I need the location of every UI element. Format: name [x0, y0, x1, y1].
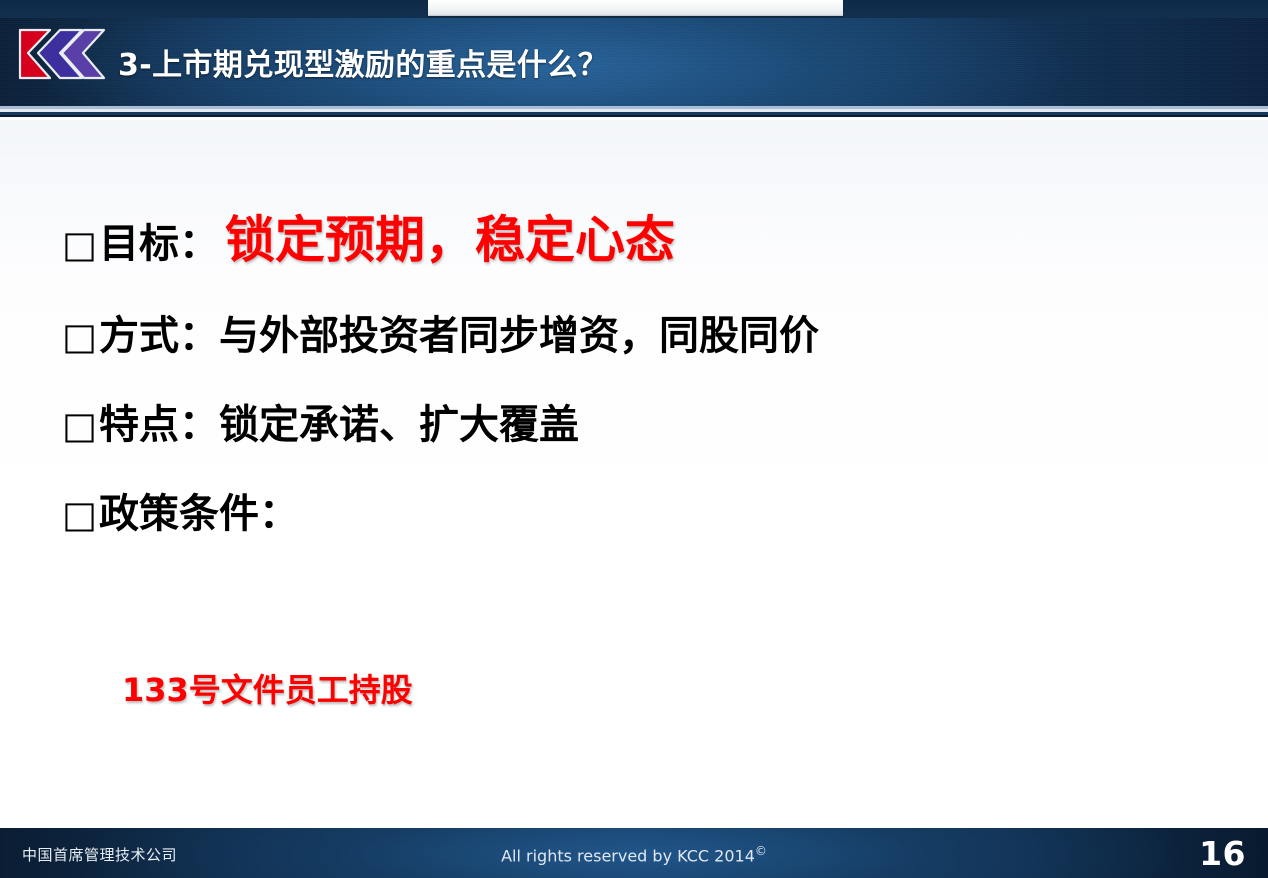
bullet-label-feature: 特点：	[99, 402, 219, 448]
header-divider	[0, 106, 1268, 120]
bullet-item-policy: □ 政策条件：	[62, 491, 1212, 537]
square-bullet-icon: □	[62, 496, 97, 533]
slide-body: □ 目标： 锁定预期，稳定心态 □ 方式： 与外部投资者同步增资，同股同价 □ …	[0, 120, 1268, 822]
policy-sub-note: 133号文件员工持股	[122, 665, 413, 711]
slide-title: 3-上市期兑现型激励的重点是什么？	[118, 18, 608, 106]
square-bullet-icon: □	[62, 318, 97, 355]
square-bullet-icon: □	[62, 226, 97, 263]
bullet-text-method: 与外部投资者同步增资，同股同价	[219, 313, 819, 359]
bullet-item-method: □ 方式： 与外部投资者同步增资，同股同价	[62, 313, 1212, 359]
bullet-item-goal: □ 目标： 锁定预期，稳定心态	[62, 212, 1212, 270]
kcc-chevron-logo-icon	[16, 27, 108, 81]
square-bullet-icon: □	[62, 407, 97, 444]
bullet-list: □ 目标： 锁定预期，稳定心态 □ 方式： 与外部投资者同步增资，同股同价 □ …	[62, 212, 1212, 580]
bullet-label-method: 方式：	[99, 313, 219, 359]
top-white-tab-bar	[428, 0, 843, 16]
copyright-symbol-icon: ©	[755, 844, 767, 858]
bullet-label-policy: 政策条件：	[99, 491, 299, 537]
presentation-slide: 3-上市期兑现型激励的重点是什么？ □ 目标： 锁定预期，稳定心态 □ 方式： …	[0, 0, 1268, 878]
bullet-text-feature: 锁定承诺、扩大覆盖	[219, 402, 579, 448]
slide-footer: 中国首席管理技术公司 All rights reserved by KCC 20…	[0, 826, 1268, 878]
page-number: 16	[1199, 834, 1246, 873]
top-strip	[0, 0, 1268, 18]
footer-copyright: All rights reserved by KCC 2014©	[0, 844, 1268, 865]
bullet-label-goal: 目标：	[99, 221, 219, 267]
bullet-text-goal: 锁定预期，稳定心态	[225, 212, 675, 270]
bullet-item-feature: □ 特点： 锁定承诺、扩大覆盖	[62, 402, 1212, 448]
footer-copyright-text: All rights reserved by KCC 2014	[501, 846, 755, 865]
